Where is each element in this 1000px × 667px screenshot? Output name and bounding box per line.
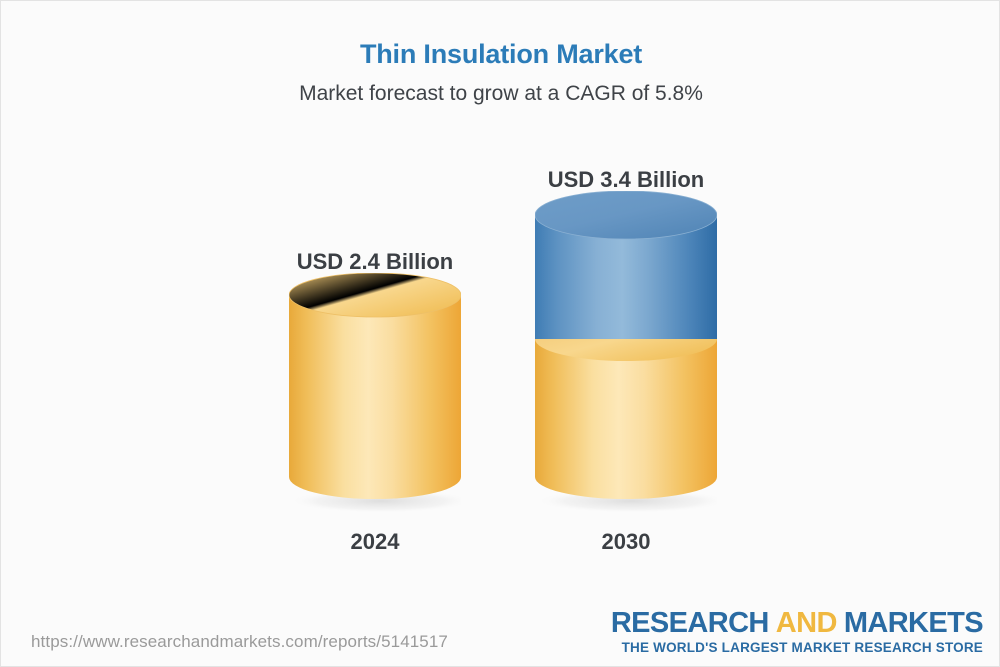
source-url-link[interactable]: https://www.researchandmarkets.com/repor…: [31, 632, 448, 652]
brand-logo[interactable]: RESEARCHANDMARKETS THE WORLD'S LARGEST M…: [611, 608, 983, 657]
bar-value-label-2030: USD 3.4 Billion: [456, 167, 796, 193]
brand-logo-wordmark: RESEARCHANDMARKETS: [611, 608, 983, 639]
bar-value-label-2024: USD 2.4 Billion: [205, 249, 545, 275]
brand-tagline: THE WORLD'S LARGEST MARKET RESEARCH STOR…: [611, 639, 983, 657]
footer: https://www.researchandmarkets.com/repor…: [1, 586, 1000, 666]
bar-cylinder-2024: [289, 273, 461, 513]
chart-plot-area: USD 2.4 Billion: [1, 1, 1000, 601]
infographic-canvas: Thin Insulation Market Market forecast t…: [0, 0, 1000, 667]
brand-word-markets: MARKETS: [844, 607, 983, 639]
brand-word-research: RESEARCH: [611, 607, 769, 639]
bar-cylinder-2030: [535, 191, 717, 513]
category-label-2030: 2030: [456, 529, 796, 555]
brand-word-and: AND: [776, 607, 837, 639]
